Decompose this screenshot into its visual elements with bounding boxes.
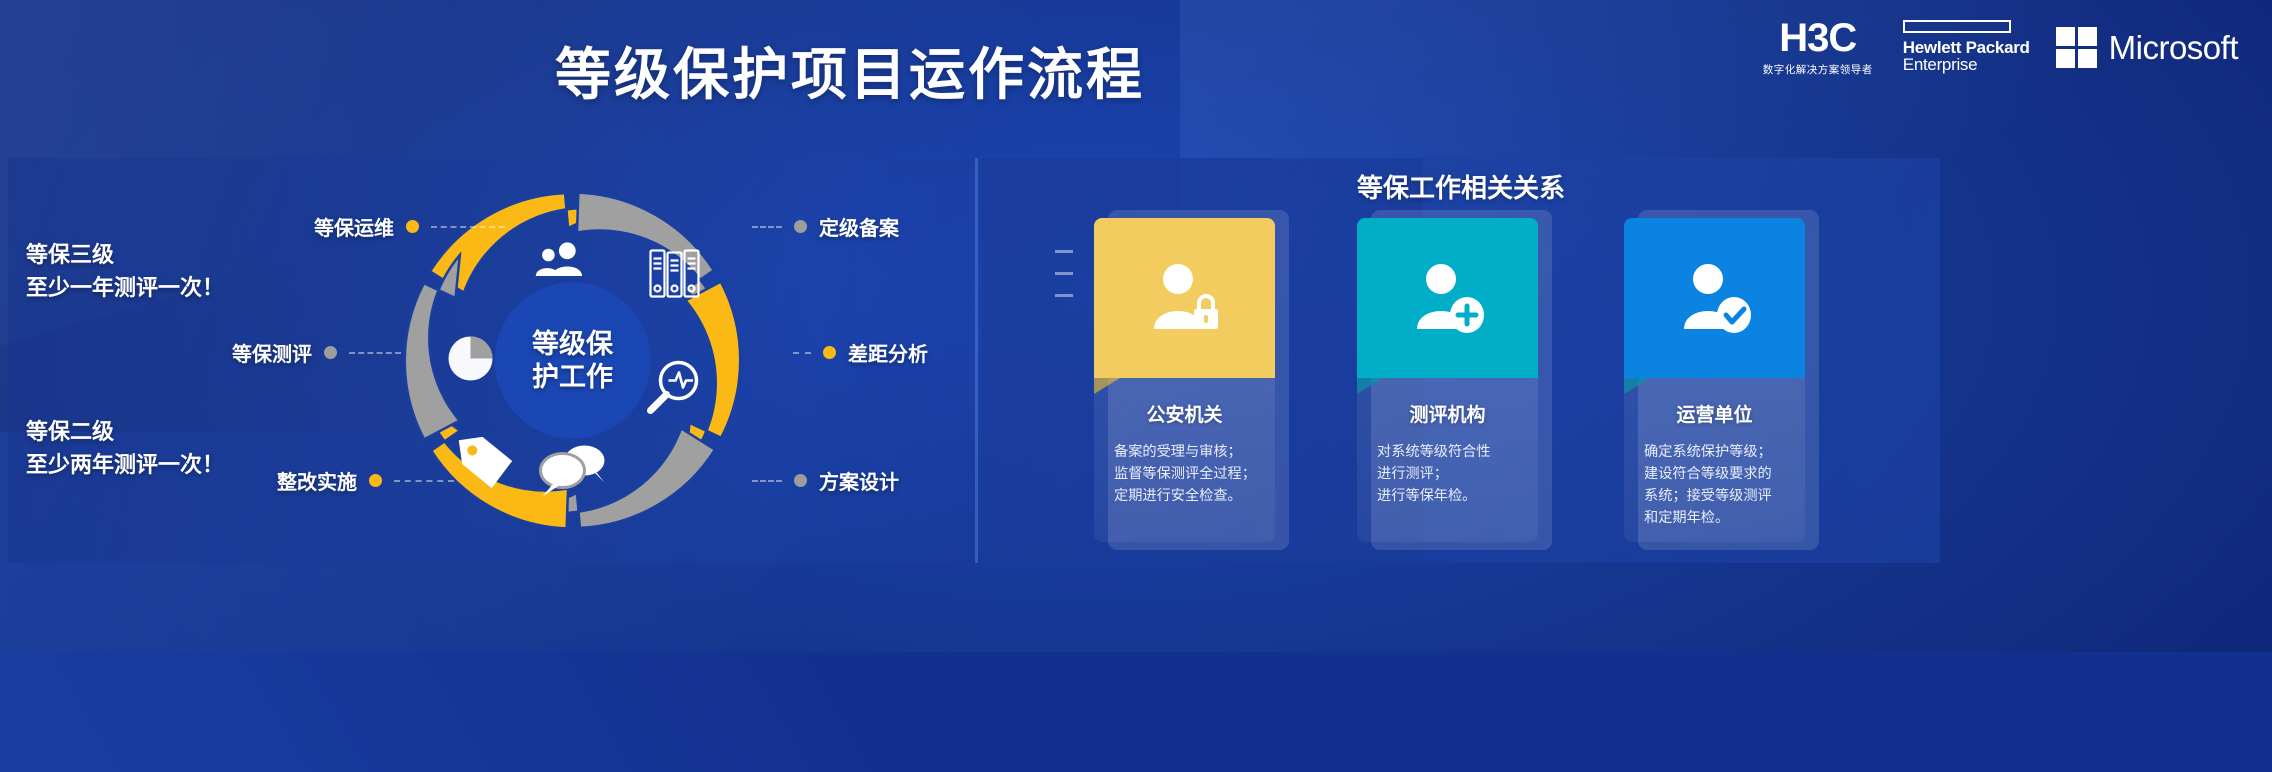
relation-card-body: 运营单位 确定系统保护等级； 建设符合等级要求的 系统；接受等级测评 和定期年检… <box>1624 378 1805 542</box>
cycle-step-label-dingji[interactable]: 定级备案 <box>752 212 899 241</box>
cycle-step-connector-zhenggai <box>394 480 454 482</box>
relation-card-description: 对系统等级符合性 进行测评； 进行等保年检。 <box>1371 441 1524 507</box>
relation-card-title: 公安机关 <box>1108 400 1261 427</box>
relation-card-description: 确定系统保护等级； 建设符合等级要求的 系统；接受等级测评 和定期年检。 <box>1638 441 1791 529</box>
slide-canvas: 等级保护项目运作流程 H3C 数字化解决方案领导者 Hewlett Packar… <box>0 0 2272 652</box>
microsoft-squares-icon <box>2056 27 2097 68</box>
cycle-step-dot-fangan <box>794 474 807 487</box>
decorative-tick <box>1055 294 1073 297</box>
cycle-step-label-yunwei[interactable]: 等保运维 <box>314 212 505 241</box>
cycle-step-dot-chaju <box>823 346 836 359</box>
relation-card-body: 测评机构 对系统等级符合性 进行测评； 进行等保年检。 <box>1357 378 1538 542</box>
microsoft-logo-word: Microsoft <box>2109 29 2238 67</box>
person-plus-icon <box>1405 255 1491 341</box>
relation-card-assessment-agency[interactable]: 测评机构 对系统等级符合性 进行测评； 进行等保年检。 <box>1357 210 1552 550</box>
cycle-step-label-ceping[interactable]: 等保测评 <box>232 338 401 367</box>
cycle-icon-chat-bubbles <box>541 446 605 497</box>
relation-card-desc-line: 和定期年检。 <box>1644 507 1791 529</box>
relation-card-title: 运营单位 <box>1638 400 1791 427</box>
callout-level-two-line1: 等保二级 <box>26 415 224 448</box>
relation-card-face: 运营单位 确定系统保护等级； 建设符合等级要求的 系统；接受等级测评 和定期年检… <box>1624 218 1805 542</box>
relation-card-desc-line: 定期进行安全检查。 <box>1114 485 1261 507</box>
cycle-step-dot-dingji <box>794 220 807 233</box>
cycle-step-connector-ceping <box>349 352 401 354</box>
cycle-icon-magnifier-pulse <box>651 363 697 411</box>
person-check-icon <box>1672 255 1758 341</box>
relation-card-face: 测评机构 对系统等级符合性 进行测评； 进行等保年检。 <box>1357 218 1538 542</box>
cycle-icon-users <box>536 242 582 276</box>
callout-level-three-line1: 等保三级 <box>26 238 224 271</box>
relation-card-icon-area <box>1094 218 1275 378</box>
decorative-tick <box>1055 250 1073 253</box>
relation-card-body: 公安机关 备案的受理与审核； 监督等保测评全过程； 定期进行安全检查。 <box>1094 378 1275 542</box>
relation-card-icon-area <box>1624 218 1805 378</box>
header: 等级保护项目运作流程 H3C 数字化解决方案领导者 Hewlett Packar… <box>0 0 2272 128</box>
h3c-logo: H3C 数字化解决方案领导者 <box>1763 18 1873 77</box>
callout-level-two: 等保二级 至少两年测评一次！ <box>26 415 224 481</box>
cycle-step-label-fangan[interactable]: 方案设计 <box>752 466 899 495</box>
cycle-step-text-zhenggai: 整改实施 <box>277 466 357 495</box>
cycle-step-label-chaju[interactable]: 差距分析 <box>793 338 928 367</box>
cycle-step-text-dingji: 定级备案 <box>819 212 899 241</box>
cycle-step-dot-yunwei <box>406 220 419 233</box>
cycle-step-connector-fangan <box>752 480 782 482</box>
cycle-step-text-fangan: 方案设计 <box>819 466 899 495</box>
callout-level-two-line2: 至少两年测评一次！ <box>26 448 224 481</box>
hpe-logo-line1: Hewlett Packard <box>1903 39 2030 56</box>
cycle-step-connector-chaju <box>793 352 811 354</box>
hpe-logo-line2: Enterprise <box>1903 56 2030 75</box>
relation-card-icon-area <box>1357 218 1538 378</box>
cycle-step-connector-dingji <box>752 226 782 228</box>
cycle-step-connector-yunwei <box>431 226 505 228</box>
cycle-icon-pie-chart <box>449 337 493 381</box>
relation-card-title: 测评机构 <box>1371 400 1524 427</box>
relation-card-desc-line: 进行等保年检。 <box>1377 485 1524 507</box>
relation-card-desc-line: 备案的受理与审核； <box>1114 441 1261 463</box>
relation-card-desc-line: 系统；接受等级测评 <box>1644 485 1791 507</box>
relation-card-face: 公安机关 备案的受理与审核； 监督等保测评全过程； 定期进行安全检查。 <box>1094 218 1275 542</box>
cycle-step-dot-ceping <box>324 346 337 359</box>
relation-card-desc-line: 建设符合等级要求的 <box>1644 463 1791 485</box>
h3c-logo-tagline: 数字化解决方案领导者 <box>1763 62 1873 77</box>
hpe-logo-bar-icon <box>1903 20 2011 33</box>
relation-card-description: 备案的受理与审核； 监督等保测评全过程； 定期进行安全检查。 <box>1108 441 1261 507</box>
relation-card-desc-line: 确定系统保护等级； <box>1644 441 1791 463</box>
hpe-logo: Hewlett Packard Enterprise <box>1899 20 2030 75</box>
right-panel-title: 等保工作相关关系 <box>982 168 1940 205</box>
relation-card-desc-line: 对系统等级符合性 <box>1377 441 1524 463</box>
logo-group: H3C 数字化解决方案领导者 Hewlett Packard Enterpris… <box>1763 18 2238 77</box>
microsoft-logo: Microsoft <box>2056 27 2238 68</box>
relation-card-public-security[interactable]: 公安机关 备案的受理与审核； 监督等保测评全过程； 定期进行安全检查。 <box>1094 210 1289 550</box>
decorative-tick <box>1055 272 1073 275</box>
panel-divider <box>975 158 978 563</box>
cycle-center-circle <box>495 283 651 439</box>
cycle-step-label-zhenggai[interactable]: 整改实施 <box>277 466 454 495</box>
relation-card-operating-unit[interactable]: 运营单位 确定系统保护等级； 建设符合等级要求的 系统；接受等级测评 和定期年检… <box>1624 210 1819 550</box>
callout-level-three: 等保三级 至少一年测评一次！ <box>26 238 224 304</box>
relation-card-desc-line: 进行测评； <box>1377 463 1524 485</box>
cycle-step-text-yunwei: 等保运维 <box>314 212 394 241</box>
h3c-logo-mark: H3C <box>1779 18 1856 58</box>
cycle-step-text-chaju: 差距分析 <box>848 338 928 367</box>
cycle-step-text-ceping: 等保测评 <box>232 338 312 367</box>
person-lock-icon <box>1142 255 1228 341</box>
page-title: 等级保护项目运作流程 <box>0 30 1700 111</box>
cycle-step-dot-zhenggai <box>369 474 382 487</box>
callout-level-three-line2: 至少一年测评一次！ <box>26 271 224 304</box>
relation-card-desc-line: 监督等保测评全过程； <box>1114 463 1261 485</box>
